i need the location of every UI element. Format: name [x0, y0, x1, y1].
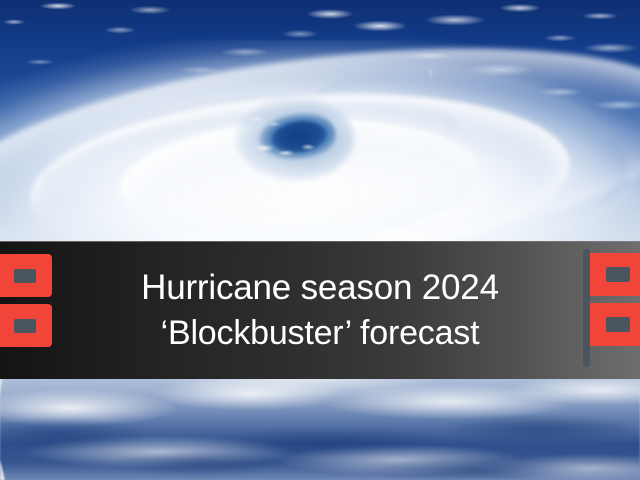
hurricane-satellite-photo — [0, 0, 640, 480]
red-block-bottom — [0, 304, 52, 347]
news-graphic-canvas: Hurricane season 2024 ‘Blockbuster’ fore… — [0, 0, 640, 480]
red-blocks-graphic — [0, 252, 54, 352]
banner-top-highlight — [0, 241, 640, 242]
red-block-bottom — [590, 303, 640, 346]
red-block-top — [0, 254, 52, 297]
block-slot-icon — [606, 317, 630, 332]
eye-cloud-wisp-lower — [252, 140, 324, 160]
headline-banner — [0, 241, 640, 379]
block-slot-icon — [14, 319, 36, 333]
eye-cloud-wisp-upper — [246, 113, 286, 129]
block-slot-icon — [606, 267, 630, 282]
block-slot-icon — [14, 269, 36, 283]
red-block-top — [590, 253, 640, 296]
red-blocks-with-bar-graphic — [583, 249, 640, 367]
cirrus-streaks — [430, 70, 640, 190]
lower-cloud-dark-patches — [0, 398, 640, 480]
vertical-bar-icon — [583, 249, 590, 367]
